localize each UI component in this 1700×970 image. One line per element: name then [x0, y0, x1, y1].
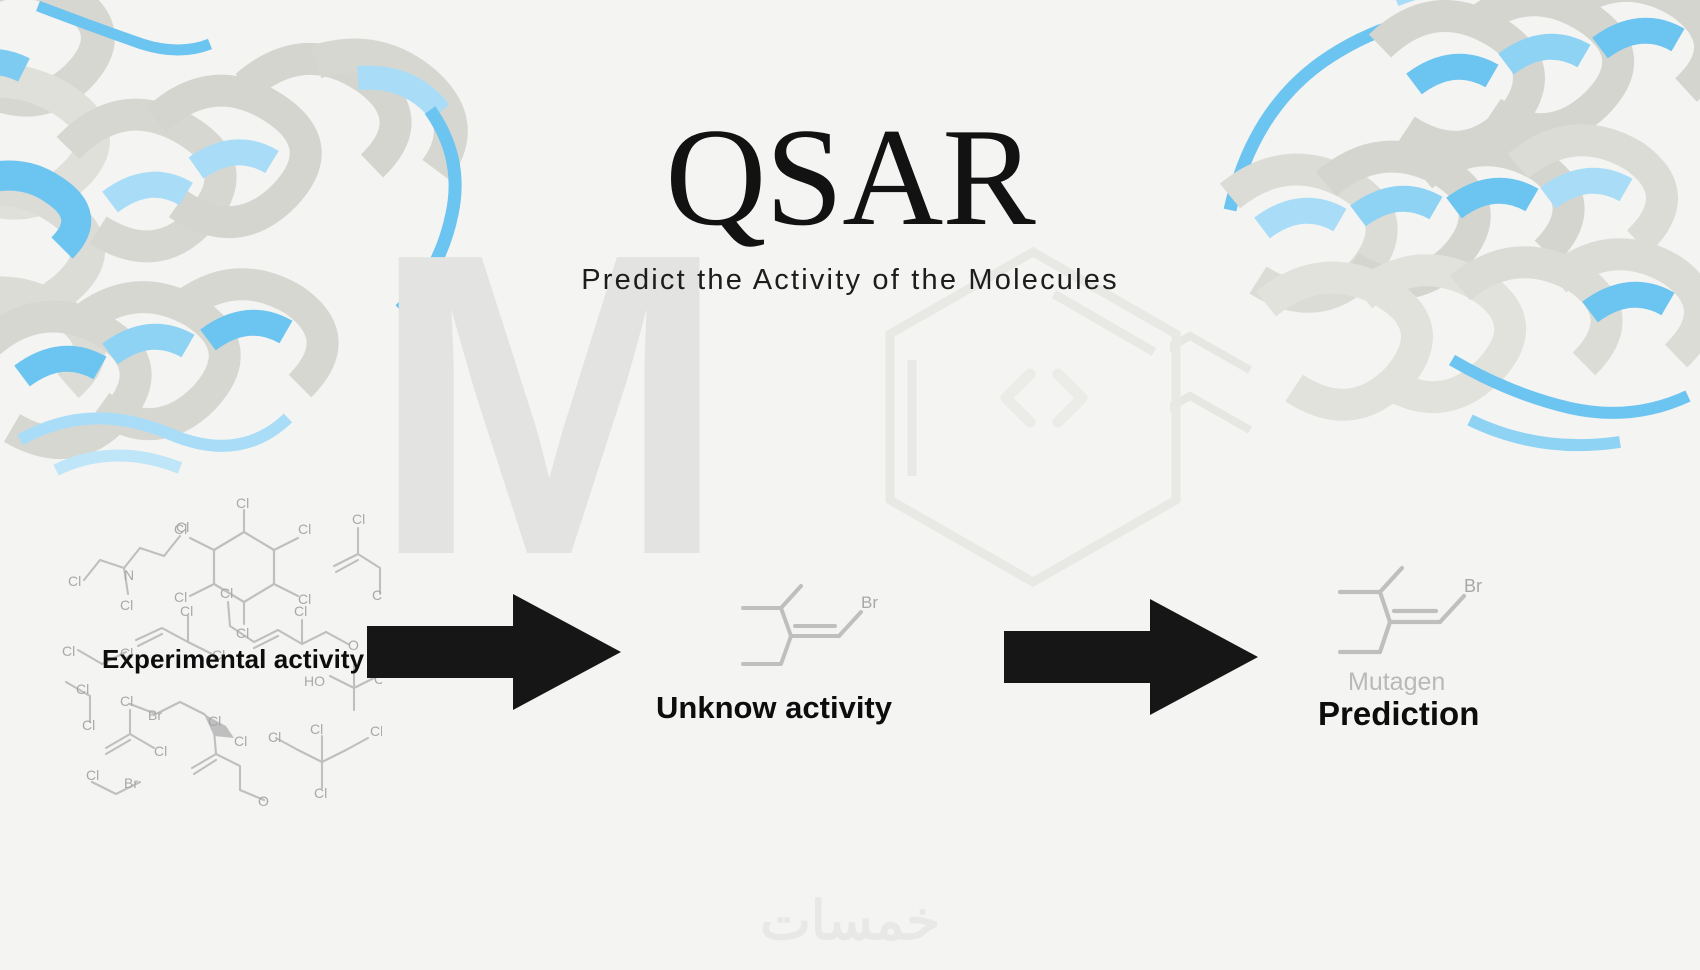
svg-text:Cl: Cl — [314, 785, 327, 801]
svg-text:Cl: Cl — [62, 643, 75, 659]
svg-text:Cl: Cl — [180, 603, 193, 619]
svg-text:Cl: Cl — [120, 693, 133, 709]
atom-label-br-right: Br — [1464, 576, 1482, 596]
svg-text:Cl: Cl — [82, 717, 95, 733]
arrow-right-icon-2 — [1000, 583, 1262, 731]
header: QSAR Predict the Activity of the Molecul… — [0, 108, 1700, 297]
svg-text:Cl: Cl — [68, 573, 81, 589]
atom-label-br-center: Br — [861, 593, 878, 612]
unknown-activity-label: Unknow activity — [656, 690, 892, 726]
svg-text:Cl: Cl — [220, 585, 233, 601]
poster-canvas: M QSAR Predict the Activity of the Molec… — [0, 0, 1700, 970]
svg-text:Cl: Cl — [76, 681, 89, 697]
svg-text:Cl: Cl — [236, 498, 249, 511]
svg-text:Cl: Cl — [154, 743, 167, 759]
arrow-right-icon-1 — [363, 578, 625, 726]
svg-text:O: O — [258, 793, 269, 808]
svg-text:Cl: Cl — [352, 511, 365, 527]
prediction-molecule-icon: Br — [1330, 560, 1500, 675]
svg-text:Cl: Cl — [120, 597, 133, 613]
svg-text:Cl: Cl — [208, 713, 221, 729]
experimental-activity-label: Experimental activity — [102, 644, 364, 675]
svg-text:Cl: Cl — [310, 721, 323, 737]
mutagen-result-label: Mutagen — [1348, 668, 1445, 697]
svg-text:Br: Br — [148, 707, 162, 723]
prediction-label: Prediction — [1318, 695, 1479, 733]
svg-text:Cl: Cl — [234, 733, 247, 749]
svg-text:Cl: Cl — [268, 729, 281, 745]
svg-text:Br: Br — [124, 775, 138, 791]
svg-text:Cl: Cl — [86, 767, 99, 783]
page-subtitle: Predict the Activity of the Molecules — [0, 264, 1700, 297]
site-watermark: خمسات — [0, 889, 1700, 952]
svg-text:Cl: Cl — [174, 521, 187, 537]
svg-text:HO: HO — [304, 673, 325, 689]
svg-text:Cl: Cl — [298, 521, 311, 537]
svg-text:Cl: Cl — [236, 625, 249, 641]
svg-text:Cl: Cl — [294, 603, 307, 619]
unknown-molecule-icon: Br — [735, 578, 895, 688]
page-title: QSAR — [0, 108, 1700, 248]
svg-text:N: N — [124, 567, 134, 583]
